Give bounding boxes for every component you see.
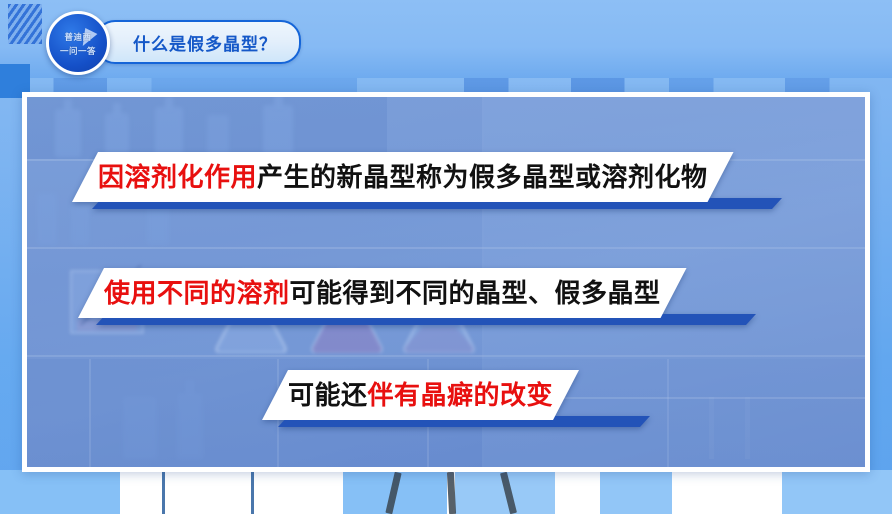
logo-text-line2: 一问一答: [49, 45, 107, 57]
banner-2-highlight: 使用不同的溶剂: [104, 278, 290, 308]
answer-badge-logo: 普迪西 一问一答: [46, 11, 110, 75]
statement-banner-1: 因溶剂化作用产生的新晶型称为假多晶型或溶剂化物: [72, 152, 734, 202]
bottom-pane-right: [600, 470, 672, 514]
banner-text-1: 因溶剂化作用产生的新晶型称为假多晶型或溶剂化物: [98, 164, 708, 190]
logo-inner: 普迪西 一问一答: [49, 14, 107, 72]
banner-text-2: 使用不同的溶剂可能得到不同的晶型、假多晶型: [104, 280, 661, 306]
bottom-pane-far-right: [782, 470, 892, 514]
bottom-divider-line: [162, 470, 165, 514]
logo-text-line1: 普迪西: [49, 31, 107, 43]
page-title: 什么是假多晶型？: [133, 30, 277, 55]
bottom-divider-line: [251, 470, 254, 514]
banner-3-lead: 可能还: [288, 380, 368, 410]
bottom-pane-left: [0, 470, 120, 514]
banner-slab: 可能还伴有晶癖的改变: [262, 370, 579, 420]
banner-3-highlight: 伴有晶癖的改变: [368, 380, 554, 410]
statement-banner-2: 使用不同的溶剂可能得到不同的晶型、假多晶型: [78, 268, 687, 318]
banner-1-highlight: 因溶剂化作用: [98, 162, 257, 192]
banner-text-3: 可能还伴有晶癖的改变: [288, 382, 553, 408]
statement-banner-3: 可能还伴有晶癖的改变: [262, 370, 579, 420]
question-title-pill: 什么是假多晶型？: [95, 20, 301, 64]
banner-slab: 使用不同的溶剂可能得到不同的晶型、假多晶型: [78, 268, 687, 318]
banner-2-rest: 可能得到不同的晶型、假多晶型: [290, 278, 661, 308]
banner-1-rest: 产生的新晶型称为假多晶型或溶剂化物: [257, 162, 708, 192]
video-frame: 因溶剂化作用产生的新晶型称为假多晶型或溶剂化物 使用不同的溶剂可能得到不同的晶型…: [0, 0, 892, 514]
banner-slab: 因溶剂化作用产生的新晶型称为假多晶型或溶剂化物: [72, 152, 734, 202]
diagonal-stripe-decoration: [8, 4, 42, 44]
